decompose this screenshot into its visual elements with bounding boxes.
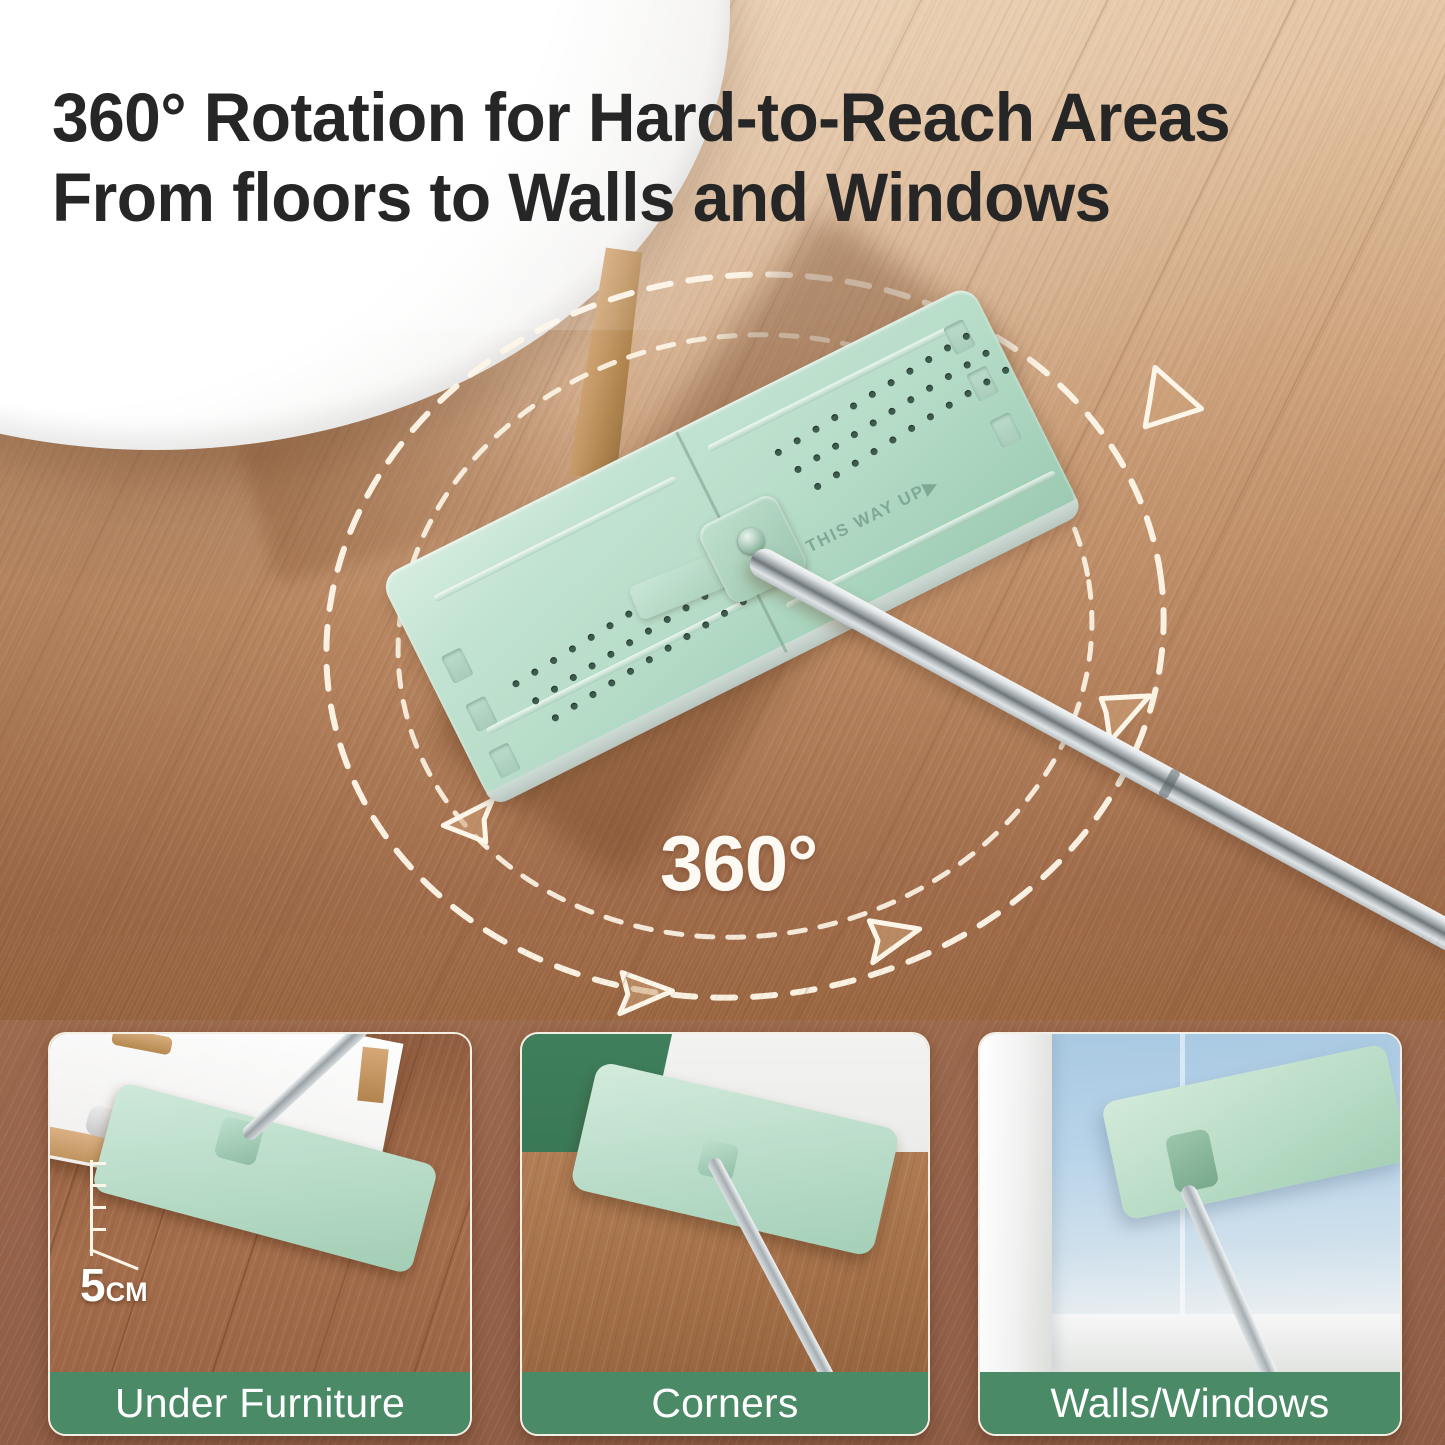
headline-line-2: From floors to Walls and Windows (52, 158, 1351, 238)
measure-tick (90, 1206, 106, 1209)
card-scene-under-furniture: 5CM (50, 1034, 470, 1372)
feature-card-corners[interactable]: Corners (520, 1032, 930, 1436)
card-label-band: Corners (522, 1372, 928, 1434)
measure-tick (90, 1228, 106, 1231)
measurement-label: 5CM (80, 1262, 148, 1308)
measure-tick (90, 1162, 106, 1165)
headline-line-1: 360° Rotation for Hard-to-Reach Areas (52, 78, 1351, 158)
headline-block: 360° Rotation for Hard-to-Reach Areas Fr… (52, 78, 1412, 238)
card-label-text: Corners (651, 1383, 798, 1424)
rotation-degree-label: 360° (660, 824, 817, 902)
feature-card-under-furniture[interactable]: 5CM Under Furniture (48, 1032, 472, 1436)
height-measure-bracket (90, 1160, 128, 1256)
card-scene-corners (522, 1034, 928, 1372)
window-sill (1052, 1314, 1400, 1372)
feature-card-walls-windows[interactable]: Walls/Windows (978, 1032, 1402, 1436)
card-label-text: Under Furniture (115, 1383, 405, 1424)
flat-mop-product: THIS WAY UP▶ (380, 270, 1100, 830)
pole-joint (1158, 768, 1181, 799)
product-feature-image: THIS WAY UP▶ 360° 360° Rotation for Hard… (0, 0, 1445, 1445)
measure-tick (90, 1184, 106, 1187)
card-label-text: Walls/Windows (1050, 1383, 1329, 1424)
window-frame (980, 1034, 1052, 1372)
hero-scene: THIS WAY UP▶ 360° 360° Rotation for Hard… (0, 0, 1445, 1020)
card-label-band: Under Furniture (50, 1372, 470, 1434)
card-label-band: Walls/Windows (980, 1372, 1400, 1434)
feature-card-row: 5CM Under Furniture Corners (0, 1020, 1445, 1445)
card-scene-walls-windows (980, 1034, 1400, 1372)
